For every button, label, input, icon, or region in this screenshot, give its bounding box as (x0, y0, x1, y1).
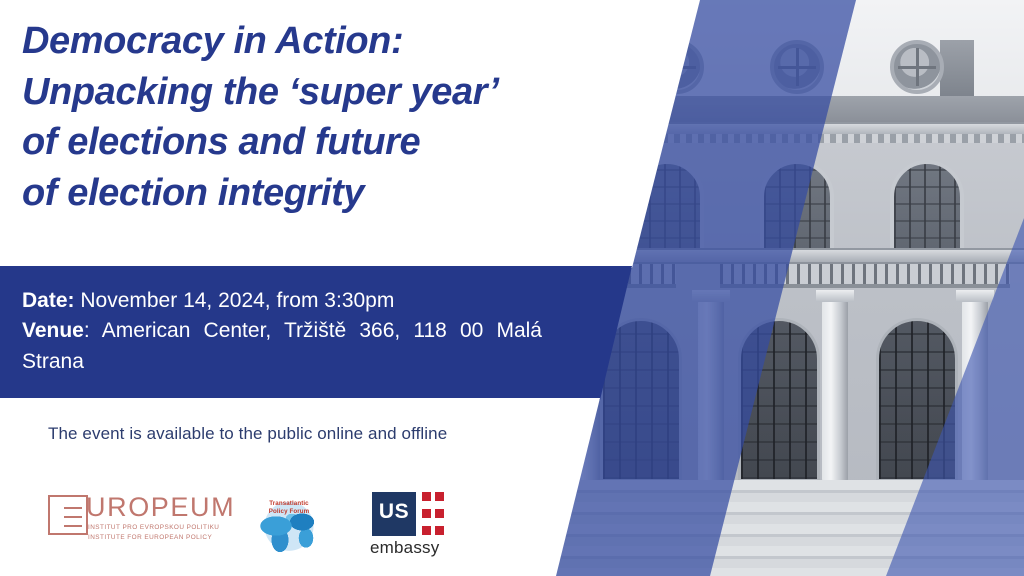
availability-note: The event is available to the public onl… (48, 424, 447, 444)
event-poster: Democracy in Action: Unpacking the ‘supe… (0, 0, 1024, 576)
red-square-4 (435, 509, 444, 518)
tpf-label-line-1: Transatlantic (256, 500, 322, 508)
europeum-subtitle: INSTITUT PRO EVROPSKOU POLITIKU INSTITUT… (88, 523, 219, 543)
title-line-1: Democracy in Action: (22, 16, 622, 67)
column-4 (962, 300, 988, 482)
europeum-subtitle-cs: INSTITUT PRO EVROPSKOU POLITIKU (88, 523, 219, 533)
us-embassy-word: embassy (370, 538, 439, 558)
europeum-subtitle-en: INSTITUTE FOR EUROPEAN POLICY (88, 533, 219, 543)
tpf-label: Transatlantic Policy Forum (256, 500, 322, 517)
red-square-2 (435, 492, 444, 501)
venue-value: American Center, Tržiště 366, 118 00 Mal… (22, 319, 542, 372)
arched-window-3 (760, 160, 834, 260)
column-3 (822, 300, 848, 482)
tpf-label-line-2: Policy Forum (256, 508, 322, 516)
date-value: November 14, 2024, from 3:30pm (80, 289, 394, 312)
europeum-logo[interactable]: UROPEUM INSTITUT PRO EVROPSKOU POLITIKU … (48, 490, 234, 552)
roundel-4 (890, 40, 944, 94)
us-embassy-mark-text: US (372, 501, 416, 522)
globe-icon (256, 488, 322, 554)
roundel-3 (770, 40, 824, 94)
us-embassy-logo[interactable]: US embassy (362, 486, 454, 556)
red-square-1 (422, 492, 431, 501)
event-details: Date: November 14, 2024, from 3:30pm Ven… (22, 286, 542, 377)
ground-arch-3 (876, 318, 958, 482)
red-square-5 (422, 526, 431, 535)
transatlantic-policy-forum-logo[interactable]: Transatlantic Policy Forum (256, 488, 322, 554)
page-title: Democracy in Action: Unpacking the ‘supe… (22, 16, 622, 218)
europeum-square-e-mark-icon (48, 495, 88, 535)
column-2 (698, 300, 724, 482)
venue-row: Venue: American Center, Tržiště 366, 118… (22, 316, 542, 377)
e-bar-3 (64, 525, 82, 527)
title-line-2: Unpacking the ‘super year’ (22, 67, 622, 118)
europeum-wordmark: UROPEUM (86, 492, 235, 523)
chimney-right (940, 40, 974, 98)
ground-arch-2 (738, 318, 820, 482)
red-square-6 (435, 526, 444, 535)
title-line-4: of election integrity (22, 168, 622, 219)
e-bar-1 (64, 507, 82, 509)
date-label: Date: (22, 289, 75, 312)
venue-label: Venue (22, 319, 84, 342)
venue-separator: : (84, 319, 90, 342)
e-bar-2 (64, 516, 82, 518)
red-squares-grid-icon (422, 492, 446, 536)
date-row: Date: November 14, 2024, from 3:30pm (22, 286, 542, 316)
partner-logos: UROPEUM INSTITUT PRO EVROPSKOU POLITIKU … (44, 486, 464, 558)
red-square-3 (422, 509, 431, 518)
us-embassy-mark: US (372, 492, 416, 536)
title-line-3: of elections and future (22, 117, 622, 168)
arched-window-4 (890, 160, 964, 260)
